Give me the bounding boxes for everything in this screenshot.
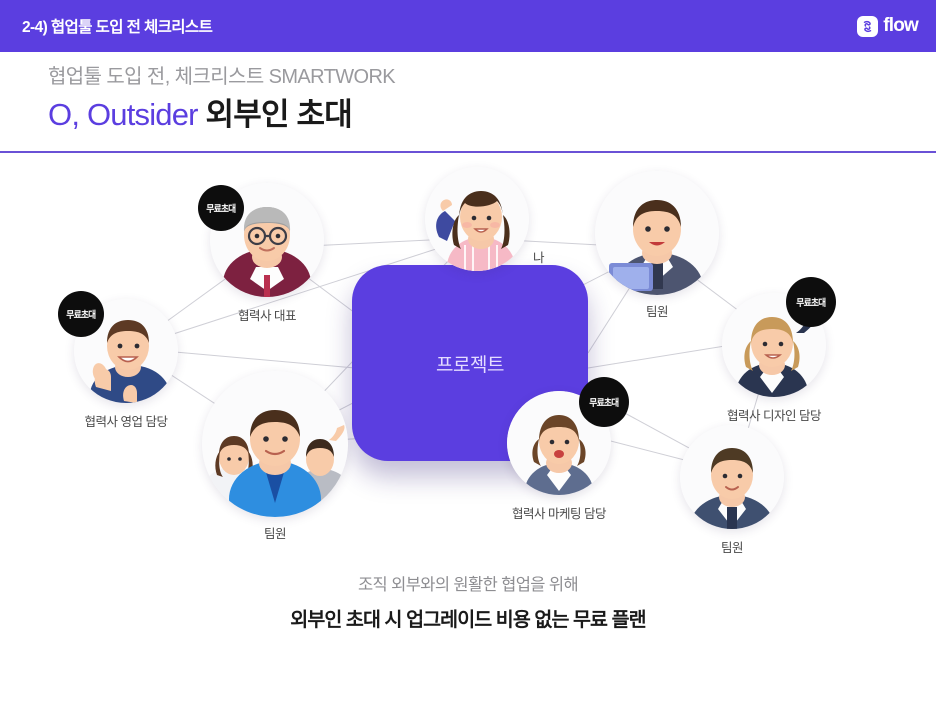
page-subtitle: 협업툴 도입 전, 체크리스트 SMARTWORK [48,64,908,90]
person-label: 팀원 [646,301,668,320]
avatar [680,425,784,529]
avatar [595,171,719,295]
header-title: 2-4) 협업툴 도입 전 체크리스트 [22,15,212,37]
title-block: 협업툴 도입 전, 체크리스트 SMARTWORK O, Outsider 외부… [48,64,908,135]
page-title: O, Outsider 외부인 초대 [48,96,908,135]
free-invite-badge-label: 무료초대 [206,201,235,215]
person-node-me[interactable]: 나 [425,167,529,271]
free-invite-badge-label: 무료초대 [66,307,95,321]
caption-top-text: 조직 외부와의 원활한 협업을 위해 [0,574,936,597]
person-label: 협력사 디자인 담당 [727,405,821,424]
avatar [425,167,529,271]
brand-logo: flow [857,15,918,37]
network-diagram: 프로젝트 협력사 대표 무료초대 [0,153,936,573]
flow-logo-icon [857,16,878,37]
person-label: 협력사 마케팅 담당 [512,503,606,522]
person-node-team-member-left[interactable]: 팀원 [202,371,348,517]
person-label: 협력사 대표 [238,305,296,324]
header-bar: 2-4) 협업툴 도입 전 체크리스트 flow [0,0,936,52]
free-invite-badge: 무료초대 [786,277,836,327]
page-title-accent: O, Outsider [48,97,198,132]
free-invite-badge: 무료초대 [198,185,244,231]
brand-name: flow [883,15,918,37]
free-invite-badge: 무료초대 [579,377,629,427]
avatar [202,371,348,517]
page-title-rest: 외부인 초대 [206,97,352,132]
person-node-team-member-top[interactable]: 팀원 [595,171,719,295]
person-label: 팀원 [264,523,286,542]
person-node-partner-ceo[interactable]: 협력사 대표 무료초대 [210,183,324,297]
person-label-me: 나 [533,247,544,266]
free-invite-badge-label: 무료초대 [589,395,618,409]
person-node-team-member-right[interactable]: 팀원 [680,425,784,529]
free-invite-badge-label: 무료초대 [796,295,825,309]
free-invite-badge: 무료초대 [58,291,104,337]
person-label: 협력사 영업 담당 [85,411,168,430]
person-label: 팀원 [721,537,743,556]
person-node-partner-sales[interactable]: 협력사 영업 담당 무료초대 [74,299,178,403]
project-card-label: 프로젝트 [436,350,504,377]
person-node-partner-designer[interactable]: 협력사 디자인 담당 무료초대 [722,293,826,397]
person-node-partner-marketing[interactable]: 협력사 마케팅 담당 무료초대 [507,391,611,495]
bottom-caption: 조직 외부와의 원활한 협업을 위해 외부인 초대 시 업그레이드 비용 없는 … [0,574,936,634]
caption-main-text: 외부인 초대 시 업그레이드 비용 없는 무료 플랜 [0,607,936,634]
